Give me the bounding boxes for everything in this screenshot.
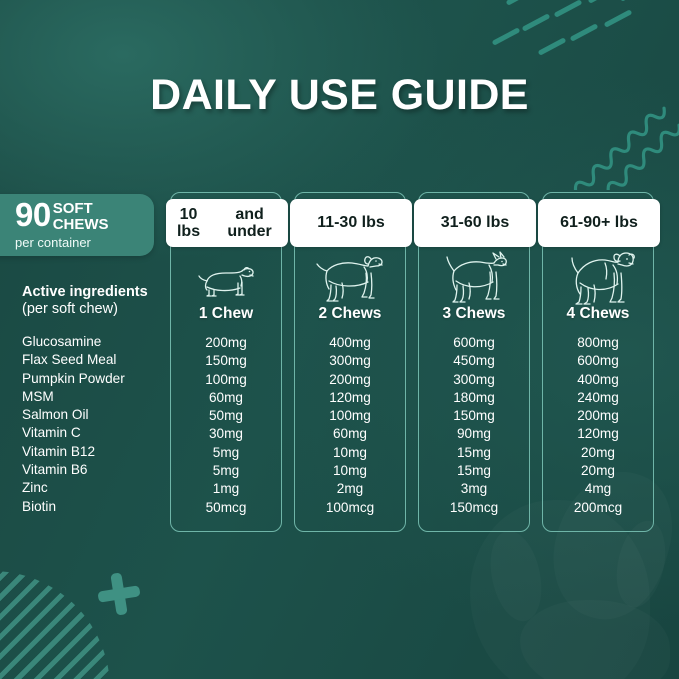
dash-decoration-segment: [506, 0, 535, 6]
dosage-value: 20mg: [543, 444, 653, 462]
active-ingredients-title: Active ingredients: [22, 284, 148, 301]
dosage-value-list: 200mg150mg100mg60mg50mg30mg5mg5mg1mg50mc…: [171, 334, 281, 517]
weight-range-header: 11-30 lbs: [290, 199, 412, 247]
dosage-value: 15mg: [419, 462, 529, 480]
ingredient-row: Zinc: [22, 479, 125, 497]
badge-count: 90: [15, 199, 51, 231]
diagonal-dashes-decoration: [491, 0, 641, 82]
dosage-value: 120mg: [543, 425, 653, 443]
chew-count-label: 2 Chews: [295, 305, 405, 323]
badge-main-row: 90 SOFT CHEWS: [15, 199, 109, 233]
weight-range-line: 61-90+ lbs: [560, 214, 638, 231]
dosage-value: 200mcg: [543, 499, 653, 517]
dash-decoration-segment: [554, 0, 583, 18]
dosage-value: 5mg: [171, 444, 281, 462]
dosage-column-1: 10 lbsand under 1 Chew200mg150mg100mg60m…: [170, 192, 282, 532]
dosage-value: 200mg: [171, 334, 281, 352]
dosage-value: 60mg: [295, 425, 405, 443]
dosage-value: 450mg: [419, 352, 529, 370]
dash-decoration-segment: [492, 27, 521, 45]
dosage-value: 100mcg: [295, 499, 405, 517]
weight-range-line: 10 lbs: [166, 206, 211, 241]
ingredient-row: Pumpkin Powder: [22, 370, 125, 388]
dosage-value: 400mg: [543, 371, 653, 389]
dosage-column-3: 31-60 lbs 3 Chews600mg450mg300mg180mg150…: [418, 192, 530, 532]
weight-range-line: 31-60 lbs: [441, 214, 509, 231]
ingredient-row: Biotin: [22, 498, 125, 516]
dash-decoration-segment: [620, 0, 649, 2]
badge-unit-line1: SOFT: [53, 200, 93, 217]
ingredient-row: Vitamin B12: [22, 443, 125, 461]
doberman-dog-icon: [419, 251, 529, 307]
dosage-value: 800mg: [543, 334, 653, 352]
ingredient-row: Salmon Oil: [22, 406, 125, 424]
dosage-value: 240mg: [543, 389, 653, 407]
dosage-value: 180mg: [419, 389, 529, 407]
dosage-columns: 10 lbsand under 1 Chew200mg150mg100mg60m…: [170, 192, 678, 534]
dosage-value: 10mg: [295, 444, 405, 462]
weight-range-header: 61-90+ lbs: [538, 199, 660, 247]
dosage-value: 300mg: [295, 352, 405, 370]
striped-quarter-circle-decoration: [0, 571, 110, 679]
mastiff-dog-icon: [543, 251, 653, 307]
badge-unit-line2: CHEWS: [53, 216, 109, 233]
dosage-value: 5mg: [171, 462, 281, 480]
dosage-value: 600mg: [419, 334, 529, 352]
dosage-value: 20mg: [543, 462, 653, 480]
dosage-value: 30mg: [171, 425, 281, 443]
weight-range-header: 10 lbsand under: [166, 199, 288, 247]
chew-count-label: 3 Chews: [419, 305, 529, 323]
weight-range-header: 31-60 lbs: [414, 199, 536, 247]
ingredient-row: Vitamin C: [22, 424, 125, 442]
dosage-value: 150mg: [419, 407, 529, 425]
active-ingredients-heading: Active ingredients (per soft chew): [22, 284, 148, 318]
dosage-value-list: 400mg300mg200mg120mg100mg60mg10mg10mg2mg…: [295, 334, 405, 517]
ingredient-row: Flax Seed Meal: [22, 351, 125, 369]
dosage-value: 60mg: [171, 389, 281, 407]
ingredient-row: Vitamin B6: [22, 461, 125, 479]
dosage-value: 100mg: [295, 407, 405, 425]
dosage-value: 400mg: [295, 334, 405, 352]
ingredient-row: MSM: [22, 388, 125, 406]
dosage-value: 200mg: [543, 407, 653, 425]
dosage-column-2: 11-30 lbs 2 Chews400mg300mg200mg120mg100…: [294, 192, 406, 532]
dosage-value-list: 600mg450mg300mg180mg150mg90mg15mg15mg3mg…: [419, 334, 529, 517]
ingredient-list: GlucosamineFlax Seed MealPumpkin PowderM…: [22, 333, 125, 516]
chew-count-label: 4 Chews: [543, 305, 653, 323]
badge-subtitle: per container: [15, 235, 91, 250]
dosage-value: 3mg: [419, 480, 529, 498]
dosage-value: 120mg: [295, 389, 405, 407]
dosage-value: 90mg: [419, 425, 529, 443]
dosage-value: 600mg: [543, 352, 653, 370]
dosage-column-4: 61-90+ lbs 4 Chews800mg600mg400mg240mg20…: [542, 192, 654, 532]
dachshund-dog-icon: [171, 251, 281, 307]
weight-range-line: 11-30 lbs: [317, 214, 385, 231]
dosage-value-list: 800mg600mg400mg240mg200mg120mg20mg20mg4m…: [543, 334, 653, 517]
dosage-value: 10mg: [295, 462, 405, 480]
dosage-value: 200mg: [295, 371, 405, 389]
dosage-value: 15mg: [419, 444, 529, 462]
daily-use-guide-infographic: DAILY USE GUIDE 90 SOFT CHEWS per contai…: [0, 0, 679, 679]
soft-chews-count-badge: 90 SOFT CHEWS per container: [0, 194, 154, 256]
active-ingredients-subtitle: (per soft chew): [22, 301, 148, 318]
dosage-value: 4mg: [543, 480, 653, 498]
pointer-dog-icon: [295, 251, 405, 307]
plus-mark-decoration: [96, 571, 142, 617]
page-title: DAILY USE GUIDE: [0, 74, 679, 117]
ingredient-row: Glucosamine: [22, 333, 125, 351]
dash-decoration-segment: [604, 9, 633, 27]
dash-decoration-segment: [570, 23, 599, 41]
dosage-value: 2mg: [295, 480, 405, 498]
weight-range-line: and under: [211, 206, 288, 241]
dosage-value: 300mg: [419, 371, 529, 389]
dosage-value: 50mcg: [171, 499, 281, 517]
dash-decoration-segment: [538, 37, 567, 55]
dosage-value: 150mcg: [419, 499, 529, 517]
dash-decoration-segment: [522, 13, 551, 31]
chew-count-label: 1 Chew: [171, 305, 281, 323]
dosage-value: 50mg: [171, 407, 281, 425]
dosage-value: 1mg: [171, 480, 281, 498]
dosage-value: 150mg: [171, 352, 281, 370]
dash-decoration-segment: [588, 0, 617, 4]
badge-unit: SOFT CHEWS: [53, 199, 109, 233]
dosage-value: 100mg: [171, 371, 281, 389]
